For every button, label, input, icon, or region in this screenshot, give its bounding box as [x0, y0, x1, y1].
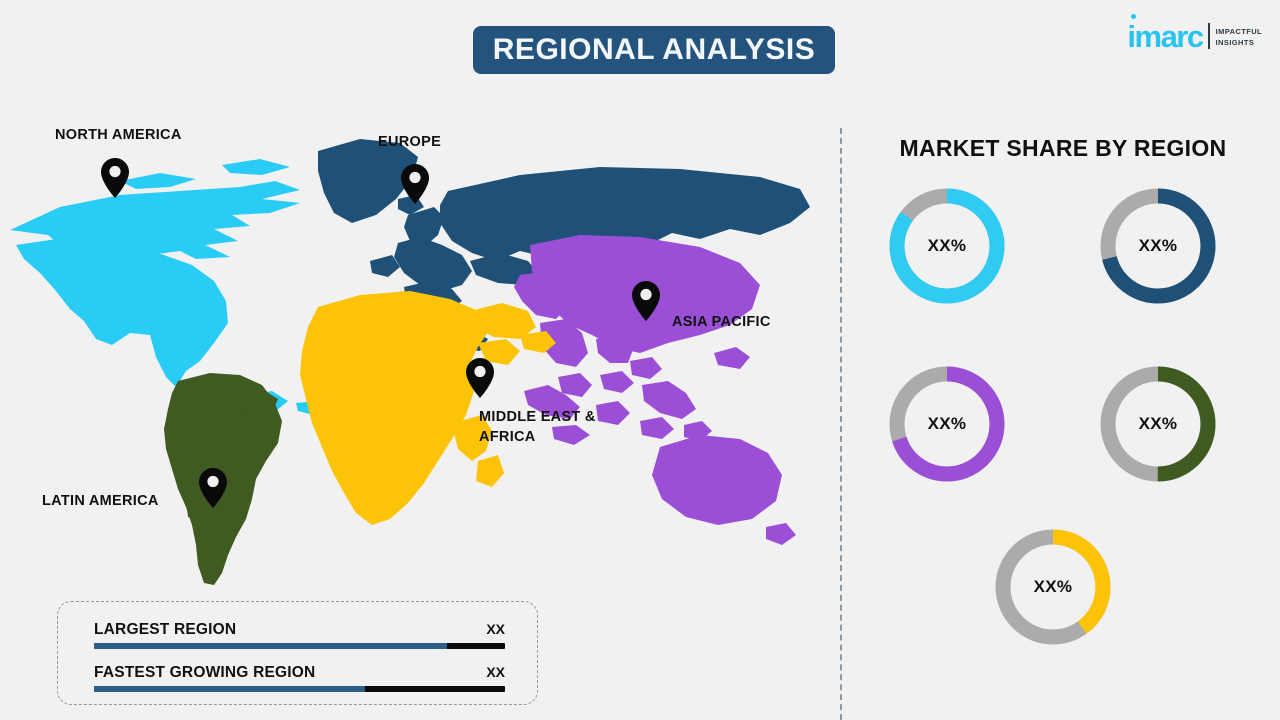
map-region-north-america	[10, 159, 330, 415]
donut-value-latin-america: XX%	[1093, 359, 1223, 489]
logo-divider	[1208, 23, 1210, 49]
imarc-logo: imarc IMPACTFUL INSIGHTS	[1127, 22, 1262, 51]
map-label-europe: EUROPE	[378, 133, 441, 153]
map-pin-latin-america-icon	[197, 467, 229, 509]
panel-divider	[840, 128, 842, 720]
legend-bar-track-fastest-growing-region	[94, 686, 505, 692]
legend-row-fastest-growing-region: FASTEST GROWING REGION XX	[94, 664, 505, 692]
page-title: REGIONAL ANALYSIS	[493, 33, 815, 67]
legend-row-largest-region: LARGEST REGION XX	[94, 621, 505, 649]
logo-tagline-line1: IMPACTFUL	[1216, 27, 1262, 38]
legend-label-largest-region: LARGEST REGION	[94, 621, 236, 639]
legend-value-largest-region: XX	[486, 621, 505, 637]
donut-value-middle-east-africa: XX%	[988, 522, 1118, 652]
donut-value-asia-pacific: XX%	[882, 359, 1012, 489]
legend-bar-track-largest-region	[94, 643, 505, 649]
logo-tagline: IMPACTFUL INSIGHTS	[1216, 27, 1262, 52]
donut-value-europe: XX%	[1093, 181, 1223, 311]
legend-value-fastest-growing-region: XX	[486, 664, 505, 680]
map-label-asia-pacific: ASIA PACIFIC	[672, 313, 771, 333]
map-label-north-america: NORTH AMERICA	[55, 126, 182, 146]
logo-wordmark-text: imarc	[1127, 19, 1202, 54]
infographic-canvas: REGIONAL ANALYSIS imarc IMPACTFUL INSIGH…	[0, 0, 1280, 720]
donut-latin-america: XX%	[1093, 359, 1223, 489]
donut-middle-east-africa: XX%	[988, 522, 1118, 652]
donut-north-america: XX%	[882, 181, 1012, 311]
logo-wordmark: imarc	[1127, 22, 1202, 51]
map-pin-asia-pacific-icon	[630, 280, 662, 322]
donut-value-north-america: XX%	[882, 181, 1012, 311]
donut-europe: XX%	[1093, 181, 1223, 311]
map-label-latin-america: LATIN AMERICA	[42, 492, 159, 512]
legend-label-fastest-growing-region: FASTEST GROWING REGION	[94, 664, 315, 682]
legend-bar-fill-largest-region	[94, 643, 447, 649]
donut-asia-pacific: XX%	[882, 359, 1012, 489]
logo-tagline-line2: INSIGHTS	[1216, 38, 1262, 49]
map-pin-north-america-icon	[99, 157, 131, 199]
market-share-title: MARKET SHARE BY REGION	[888, 135, 1238, 162]
region-summary-box: LARGEST REGION XX FASTEST GROWING REGION…	[57, 601, 538, 705]
legend-bar-fill-fastest-growing-region	[94, 686, 365, 692]
map-label-middle-east-africa: MIDDLE EAST & AFRICA	[479, 408, 596, 447]
map-pin-europe-icon	[399, 163, 431, 205]
market-share-donuts: XX% XX% XX% XX% XX%	[860, 178, 1260, 698]
page-title-badge: REGIONAL ANALYSIS	[473, 26, 835, 74]
map-pin-middle-east-africa-icon	[464, 357, 496, 399]
